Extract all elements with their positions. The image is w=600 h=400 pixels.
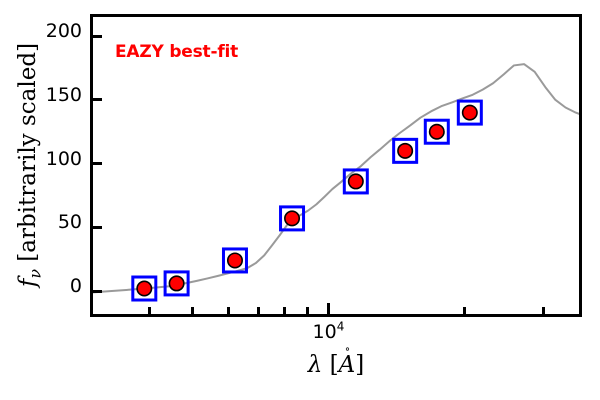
- x-axis-tick: [227, 307, 230, 314]
- y-axis-label-unit: [arbitrarily scaled]: [15, 43, 41, 269]
- photometry-point: [169, 276, 183, 290]
- x-axis-tick: [306, 307, 309, 314]
- y-axis-tick-label: 100: [0, 148, 82, 170]
- x-axis-major-tick-label: 104: [313, 321, 345, 343]
- y-axis-tick: [93, 98, 102, 101]
- x-axis-tick: [191, 307, 194, 314]
- sed-figure: 050100150200 fν [arbitrarily scaled] EAZ…: [0, 0, 600, 400]
- y-axis-tick-label: 50: [0, 211, 82, 233]
- photometry-point: [285, 211, 299, 225]
- photometry-point: [398, 144, 412, 158]
- photometry-point: [137, 281, 151, 295]
- y-axis-tick-label: 150: [0, 84, 82, 106]
- y-axis-tick: [93, 162, 102, 165]
- photometry-point: [228, 253, 242, 267]
- x-axis-label: λ [A˚]: [90, 352, 582, 378]
- x-axis-label-close: ]: [355, 352, 364, 378]
- photometry-points: [133, 101, 482, 300]
- model-spectrum-line: [93, 64, 579, 292]
- photometry-point: [463, 105, 477, 119]
- x-axis-angstrom-ring: ˚: [345, 347, 351, 361]
- y-axis-label-nu: ν: [26, 269, 45, 279]
- x-axis-tick: [327, 303, 330, 314]
- y-axis-tick: [93, 35, 102, 38]
- y-axis-tick: [93, 290, 102, 293]
- x-axis-label-open: [: [322, 352, 338, 378]
- y-axis-tick: [93, 226, 102, 229]
- photometry-point: [349, 174, 363, 188]
- x-axis-tick: [283, 307, 286, 314]
- photometry-point: [430, 125, 444, 139]
- x-axis-tick: [148, 307, 151, 314]
- x-axis-tick: [542, 307, 545, 314]
- y-axis-tick-label: 200: [0, 20, 82, 42]
- y-axis-label-f: f: [15, 279, 41, 288]
- y-axis-label: fν [arbitrarily scaled]: [15, 5, 41, 325]
- eazy-best-fit-annotation: EAZY best-fit: [115, 42, 238, 62]
- x-axis-tick: [463, 307, 466, 314]
- x-axis-label-angstrom: A˚: [339, 352, 356, 378]
- x-tick-mantissa: 10: [313, 321, 337, 343]
- plot-area: EAZY best-fit: [90, 14, 582, 317]
- x-axis-label-lambda: λ: [308, 352, 323, 378]
- x-tick-exponent: 4: [337, 320, 345, 334]
- x-axis-tick: [257, 307, 260, 314]
